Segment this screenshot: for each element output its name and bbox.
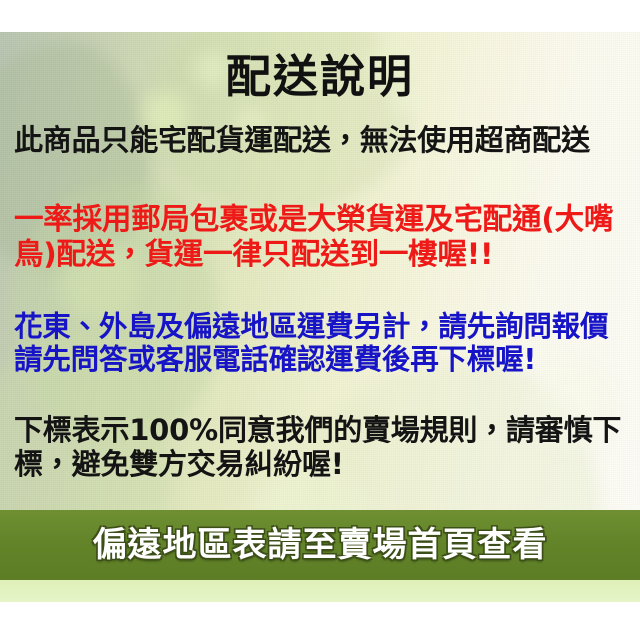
notice-paragraph-agreement: 下標表示100%同意我們的賣場規則，請審慎下標，避免雙方交易糾紛喔! bbox=[14, 414, 632, 482]
footer-banner: 偏遠地區表請至賣場首頁查看 bbox=[0, 510, 640, 580]
footer-banner-text: 偏遠地區表請至賣場首頁查看 bbox=[93, 528, 548, 562]
footer-accent-strip bbox=[0, 580, 640, 602]
page-title: 配送說明 bbox=[0, 54, 640, 99]
shipping-notice-banner: 配送說明 此商品只能宅配貨運配送，無法使用超商配送 一率採用郵局包裹或是大榮貨運… bbox=[0, 0, 640, 640]
notice-paragraph-remote-area: 花東、外島及偏遠地區運費另計，請先詢問報價請先問答或客服電話確認運費後再下標喔! bbox=[14, 310, 632, 377]
notice-paragraph-courier: 此商品只能宅配貨運配送，無法使用超商配送 bbox=[14, 124, 632, 158]
notice-content: 配送說明 此商品只能宅配貨運配送，無法使用超商配送 一率採用郵局包裹或是大榮貨運… bbox=[0, 32, 640, 602]
notice-paragraph-postal: 一率採用郵局包裹或是大榮貨運及宅配通(大嘴鳥)配送，貨運一律只配送到一樓喔!! bbox=[14, 202, 632, 271]
